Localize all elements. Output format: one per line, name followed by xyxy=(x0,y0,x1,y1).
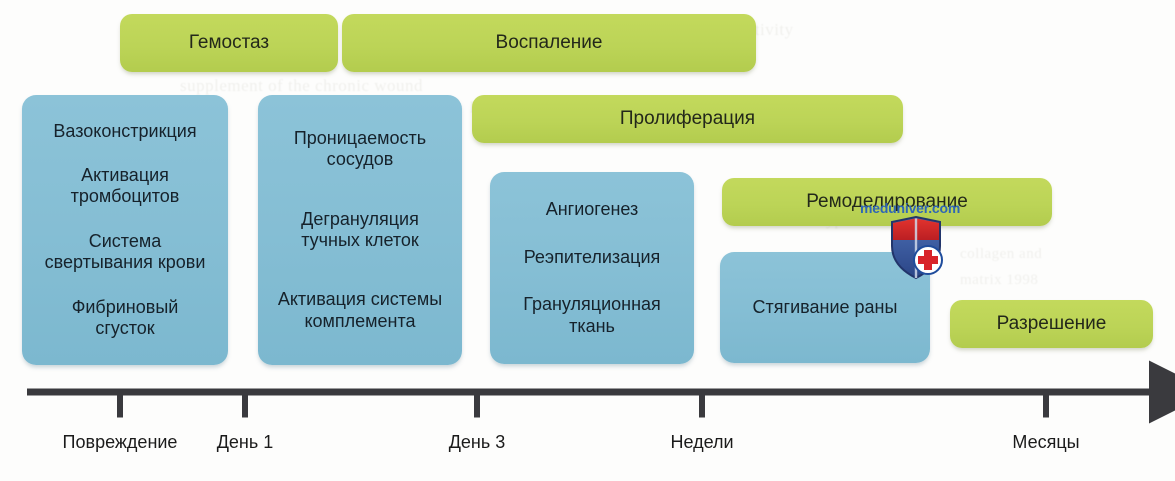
diagram-canvas: supplement of the chronic woundof delaye… xyxy=(0,0,1175,481)
event-card-item: Дегрануляция тучных клеток xyxy=(268,209,452,251)
phase-bar[interactable]: Разрешение xyxy=(950,300,1153,348)
event-card-item: Система свертывания крови xyxy=(32,231,218,273)
timeline-tick-label: День 3 xyxy=(449,432,506,453)
event-card[interactable]: ВазоконстрикцияАктивация тромбоцитовСист… xyxy=(22,95,228,365)
shield-medical-cross-icon xyxy=(888,216,944,280)
event-card-item: Активация системы комплемента xyxy=(268,289,452,331)
timeline-tick-label: День 1 xyxy=(217,432,274,453)
timeline-tick-label: Недели xyxy=(670,432,733,453)
event-card-item: Активация тромбоцитов xyxy=(32,165,218,207)
phase-bar-label: Пролиферация xyxy=(620,109,755,130)
event-card[interactable]: АнгиогенезРеэпителизацияГрануляционная т… xyxy=(490,172,694,364)
phase-bar-label: Разрешение xyxy=(997,314,1107,335)
event-card-item: Вазоконстрикция xyxy=(32,121,218,142)
timeline-tick-label: Месяцы xyxy=(1012,432,1079,453)
event-card-item: Фибриновый сгусток xyxy=(32,297,218,339)
phase-bar[interactable]: Воспаление xyxy=(342,14,756,72)
event-card-item: Проницаемость сосудов xyxy=(268,128,452,170)
event-card-item: Грануляционная ткань xyxy=(500,294,684,336)
timeline-tick-label: Повреждение xyxy=(63,432,178,453)
event-card-item: Ангиогенез xyxy=(500,199,684,220)
event-card-item: Реэпителизация xyxy=(500,247,684,268)
phase-bar[interactable]: Пролиферация xyxy=(472,95,903,143)
showthrough-text: supplement of the chronic wound xyxy=(180,76,423,96)
phase-bar[interactable]: Гемостаз xyxy=(120,14,338,72)
watermark: meduniver.com xyxy=(860,200,980,290)
event-card-item: Стягивание раны xyxy=(730,297,920,318)
phase-bar-label: Гемостаз xyxy=(189,33,269,54)
watermark-text: meduniver.com xyxy=(860,200,960,216)
event-card[interactable]: Проницаемость сосудовДегрануляция тучных… xyxy=(258,95,462,365)
phase-bar-label: Воспаление xyxy=(496,33,603,54)
